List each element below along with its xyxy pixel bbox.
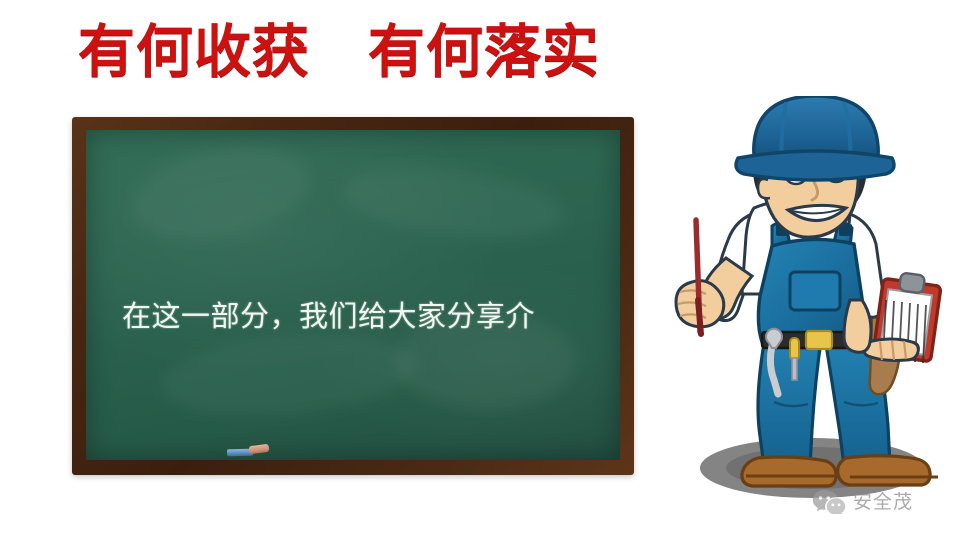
ear [758, 179, 770, 198]
left-boot [742, 457, 836, 486]
right-hand [864, 339, 918, 361]
belt-buckle-icon [806, 331, 832, 349]
blackboard-line-2: 绍了检维修作业安全。 [122, 452, 602, 460]
right-boot [838, 456, 930, 485]
watermark: 安全茂 [812, 487, 913, 514]
blackboard: 在这一部分，我们给大家分享介 绍了检维修作业安全。 对于此部分内容，大家还有什么… [72, 117, 634, 475]
screwdriver-icon [790, 338, 799, 380]
slide-root: 有何收获 有何落实 在这一部分，我们给大家分享介 绍了检维修作业安全。 对于此部… [0, 0, 960, 540]
wechat-icon [812, 488, 846, 514]
blackboard-text: 在这一部分，我们给大家分享介 绍了检维修作业安全。 对于此部分内容，大家还有什么… [122, 182, 602, 460]
watermark-text: 安全茂 [853, 487, 913, 514]
right-forearm [844, 300, 871, 352]
blackboard-line-1: 在这一部分，我们给大家分享介 [122, 290, 602, 344]
page-title: 有何收获 有何落实 [78, 16, 600, 88]
construction-worker-illustration [662, 96, 960, 508]
bib-pocket [790, 272, 840, 310]
hard-hat-brim [736, 151, 894, 180]
blackboard-surface: 在这一部分，我们给大家分享介 绍了检维修作业安全。 对于此部分内容，大家还有什么… [86, 130, 620, 460]
clipboard-clip-icon [899, 272, 925, 293]
